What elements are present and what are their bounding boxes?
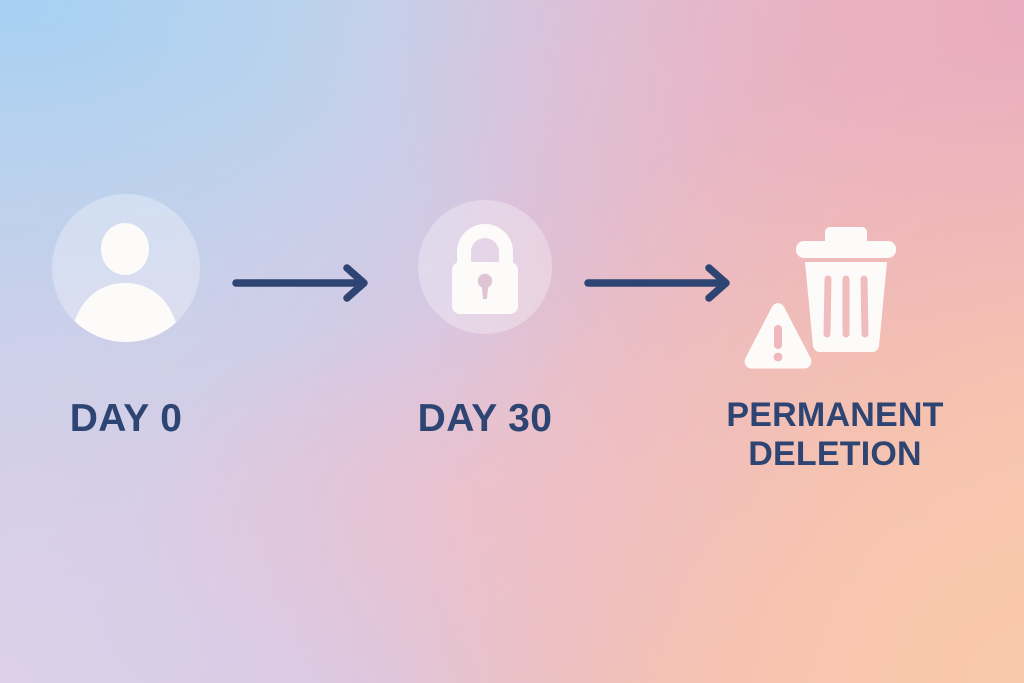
user-avatar-icon bbox=[52, 194, 200, 342]
lock-icon bbox=[418, 200, 552, 334]
warning-triangle-icon bbox=[740, 298, 816, 378]
arrow-right-icon bbox=[584, 262, 736, 304]
step-label-permanent-deletion: PERMANENT DELETION bbox=[690, 396, 980, 475]
arrow-right-icon bbox=[232, 262, 374, 304]
step-label-day-0: DAY 0 bbox=[16, 396, 236, 441]
infographic-canvas: DAY 0 bbox=[0, 0, 1024, 683]
step-label-day-30: DAY 30 bbox=[375, 396, 595, 441]
